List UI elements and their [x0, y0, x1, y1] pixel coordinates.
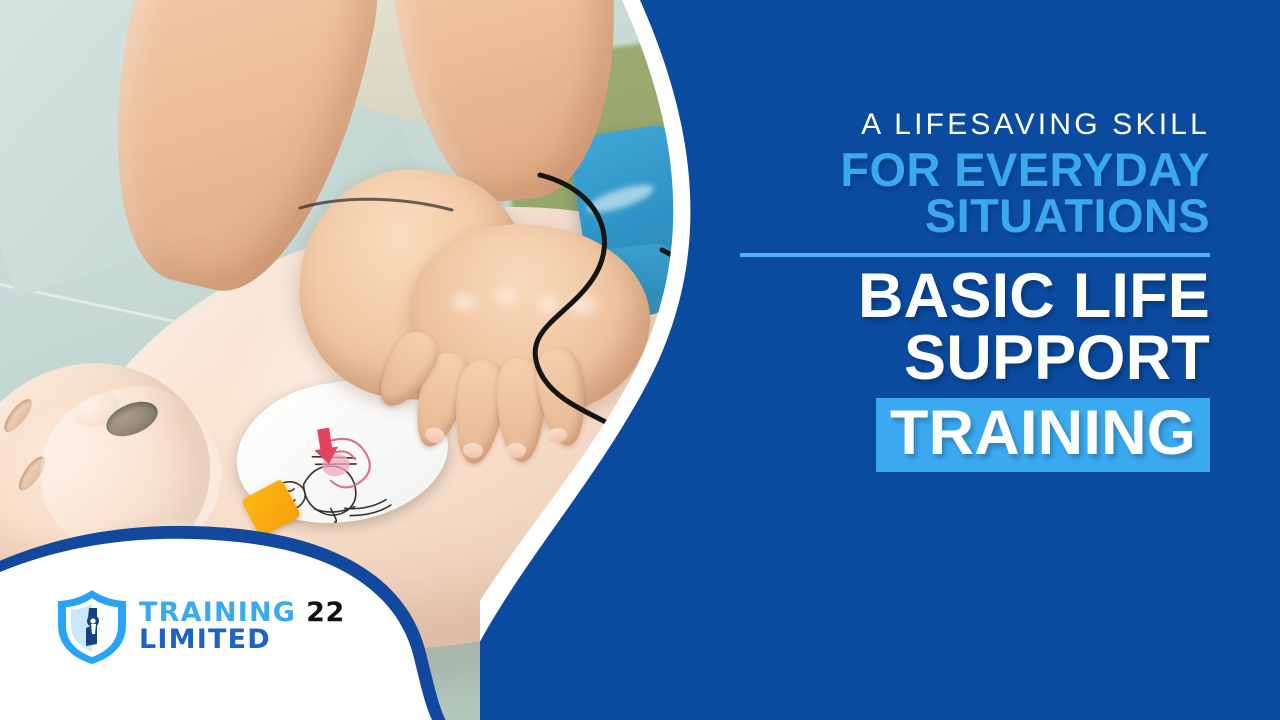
divider-rule	[740, 253, 1210, 257]
logo-number: 22	[306, 601, 345, 626]
logo-training-text: TRAINING	[139, 601, 296, 626]
banner-canvas: TRAINING 22 LIMITED A LIFESAVING SKILL F…	[0, 0, 1280, 720]
title-highlight-wrap: TRAINING	[740, 398, 1210, 472]
accent-line-2: SITUATIONS	[740, 193, 1210, 239]
title-line-1: BASIC LIFE	[740, 267, 1210, 327]
logo-limited-text: LIMITED	[139, 628, 345, 653]
shield-person-icon	[55, 588, 129, 666]
title-line-2: SUPPORT	[740, 329, 1210, 389]
kicker-text: A LIFESAVING SKILL	[740, 108, 1210, 141]
company-logo[interactable]: TRAINING 22 LIMITED	[55, 588, 345, 666]
accent-line-1: FOR EVERYDAY	[740, 147, 1210, 193]
title-highlight-box: TRAINING	[876, 398, 1210, 472]
headline-group: A LIFESAVING SKILL FOR EVERYDAY SITUATIO…	[740, 108, 1210, 472]
title-highlight-text: TRAINING	[890, 398, 1196, 468]
knuckle-1	[447, 288, 481, 316]
